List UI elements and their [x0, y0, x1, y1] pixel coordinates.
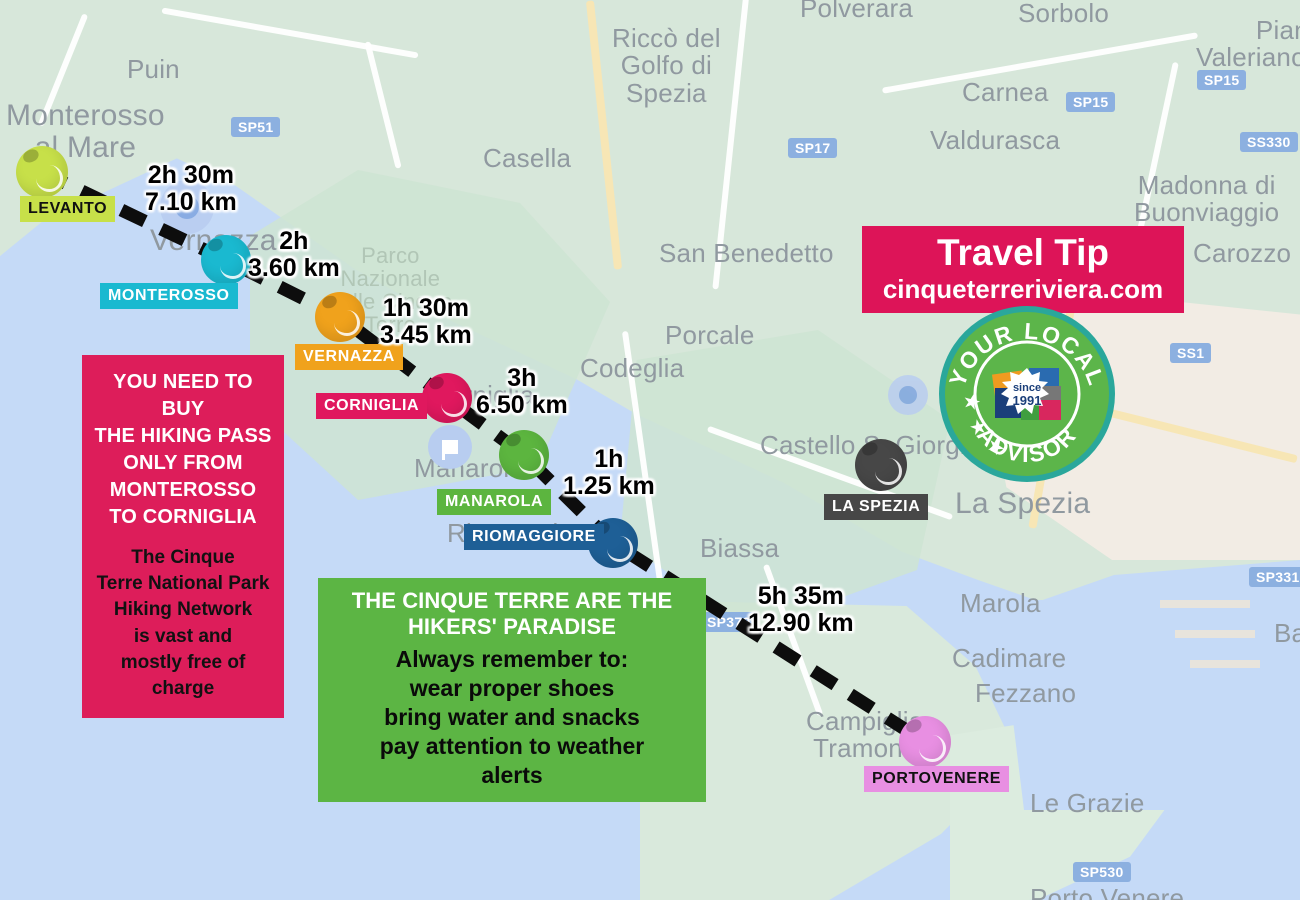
segment-distance: 12.90 km: [748, 610, 854, 637]
travel-tip-card[interactable]: Travel Tip cinqueterreriviera.com: [862, 226, 1184, 313]
segment-time: 2h: [248, 228, 340, 255]
segment-distance: 6.50 km: [476, 392, 568, 419]
segment-callout: 2h 30m7.10 km: [145, 162, 237, 216]
harbour-pier: [1160, 600, 1250, 608]
road-shield: SP51: [231, 117, 280, 137]
route-pin-portovenere[interactable]: [899, 716, 951, 768]
town-label-riomaggiore[interactable]: RIOMAGGIORE: [464, 524, 604, 550]
road-shield: SS1: [1170, 343, 1211, 363]
segment-distance: 1.25 km: [563, 473, 655, 500]
parking-poi-icon: [428, 425, 472, 469]
town-label-corniglia[interactable]: CORNIGLIA: [316, 393, 427, 419]
segment-time: 3h: [476, 365, 568, 392]
hiking-pass-card: YOU NEED TO BUY THE HIKING PASS ONLY FRO…: [82, 355, 284, 718]
your-local-advisor-logo[interactable]: YOUR LOCAL ADVISOR ★ ★ ★ since 1991: [938, 305, 1116, 483]
road-shield: SP15: [1197, 70, 1246, 90]
road-shield: SP15: [1066, 92, 1115, 112]
hikers-paradise-card: THE CINQUE TERRE ARE THE HIKERS' PARADIS…: [318, 578, 706, 802]
segment-distance: 3.45 km: [380, 322, 472, 349]
segment-time: 5h 35m: [748, 583, 854, 610]
segment-callout: 5h 35m12.90 km: [748, 583, 854, 637]
segment-time: 1h 30m: [380, 295, 472, 322]
harbour-pier: [1175, 630, 1255, 638]
road-shield: SP331: [1249, 567, 1300, 587]
transit-dot: [888, 375, 928, 415]
road-shield: SP530: [1073, 862, 1131, 882]
route-pin-corniglia[interactable]: [422, 373, 472, 423]
harbour-pier: [1190, 660, 1260, 668]
travel-tip-title: Travel Tip: [868, 234, 1178, 273]
svg-text:1991: 1991: [1013, 393, 1042, 408]
segment-callout: 1h 30m3.45 km: [380, 295, 472, 349]
cinque-terre-hiking-map: PuinMonterosso al MareVernazzaCasellaRic…: [0, 0, 1300, 900]
segment-time: 2h 30m: [145, 162, 237, 189]
segment-callout: 2h3.60 km: [248, 228, 340, 282]
road-shield: SP17: [788, 138, 837, 158]
hikers-paradise-headline: THE CINQUE TERRE ARE THE HIKERS' PARADIS…: [326, 588, 698, 641]
route-pin-laspezia[interactable]: [855, 439, 907, 491]
hiking-pass-headline: YOU NEED TO BUY THE HIKING PASS ONLY FRO…: [92, 369, 274, 531]
road-shield: SS330: [1240, 132, 1298, 152]
route-pin-vernazza[interactable]: [315, 292, 365, 342]
town-label-laspezia[interactable]: LA SPEZIA: [824, 494, 928, 520]
route-pin-manarola[interactable]: [499, 430, 549, 480]
hikers-paradise-body: Always remember to: wear proper shoes br…: [326, 645, 698, 790]
route-pin-levanto[interactable]: [16, 146, 68, 198]
segment-distance: 3.60 km: [248, 255, 340, 282]
route-pin-monterosso[interactable]: [201, 235, 251, 285]
town-label-monterosso[interactable]: MONTEROSSO: [100, 283, 238, 309]
town-label-portovenere[interactable]: PORTOVENERE: [864, 766, 1009, 792]
segment-callout: 3h6.50 km: [476, 365, 568, 419]
town-label-levanto[interactable]: LEVANTO: [20, 196, 115, 222]
segment-callout: 1h1.25 km: [563, 446, 655, 500]
segment-distance: 7.10 km: [145, 189, 237, 216]
town-label-manarola[interactable]: MANAROLA: [437, 489, 551, 515]
segment-time: 1h: [563, 446, 655, 473]
hiking-pass-body: The Cinque Terre National Park Hiking Ne…: [92, 545, 274, 702]
travel-tip-website[interactable]: cinqueterreriviera.com: [868, 275, 1178, 304]
